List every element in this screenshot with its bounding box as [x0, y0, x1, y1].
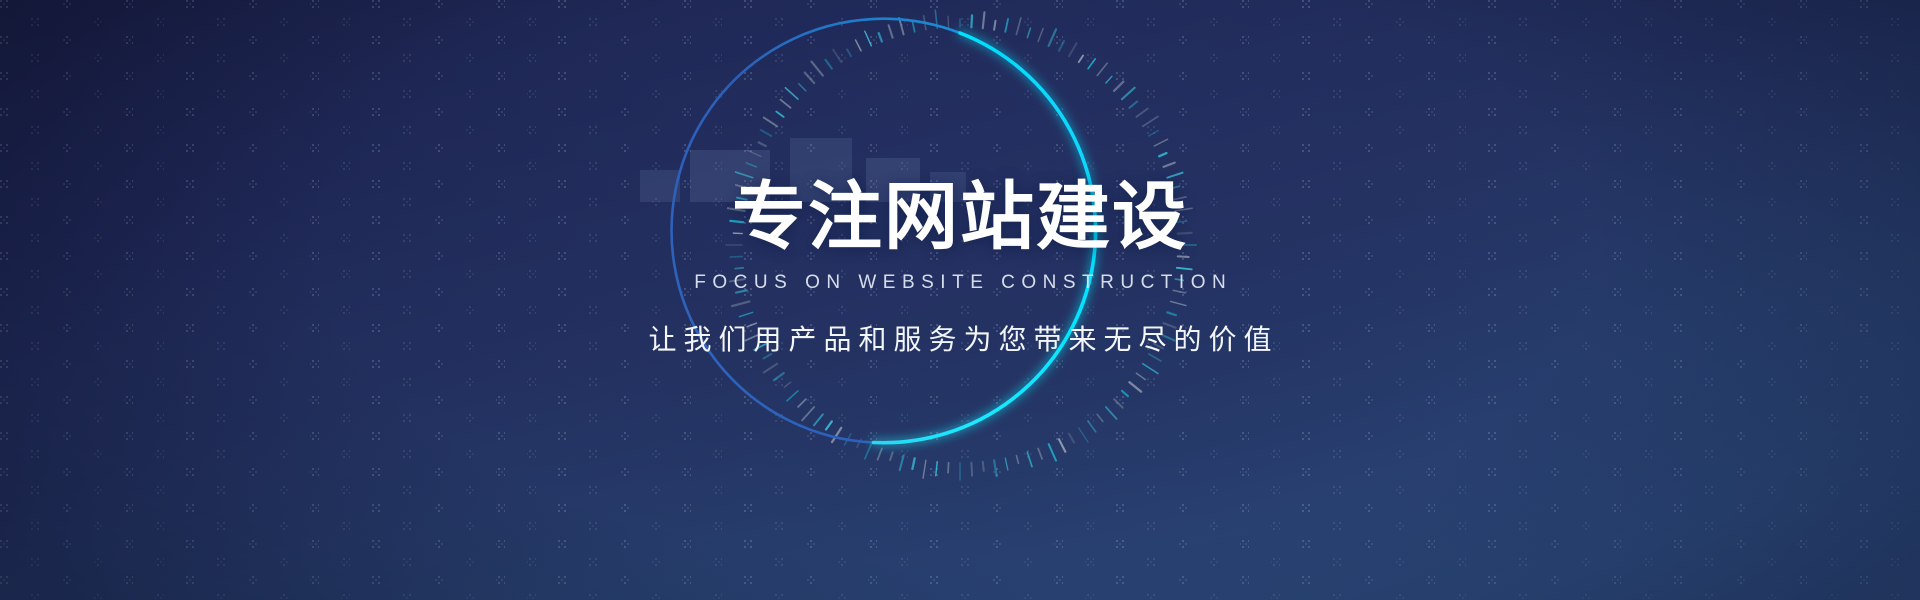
hero-tagline: 让我们用产品和服务为您带来无尽的价值 — [0, 318, 1920, 358]
hero-title: 专注网站建设 — [0, 178, 1920, 256]
hero-subtitle-en: FOCUS ON WEBSITE CONSTRUCTION — [0, 272, 1920, 294]
hero-content: 专注网站建设 FOCUS ON WEBSITE CONSTRUCTION 让我们… — [0, 178, 1920, 358]
hero-banner: 专注网站建设 FOCUS ON WEBSITE CONSTRUCTION 让我们… — [0, 0, 1920, 600]
